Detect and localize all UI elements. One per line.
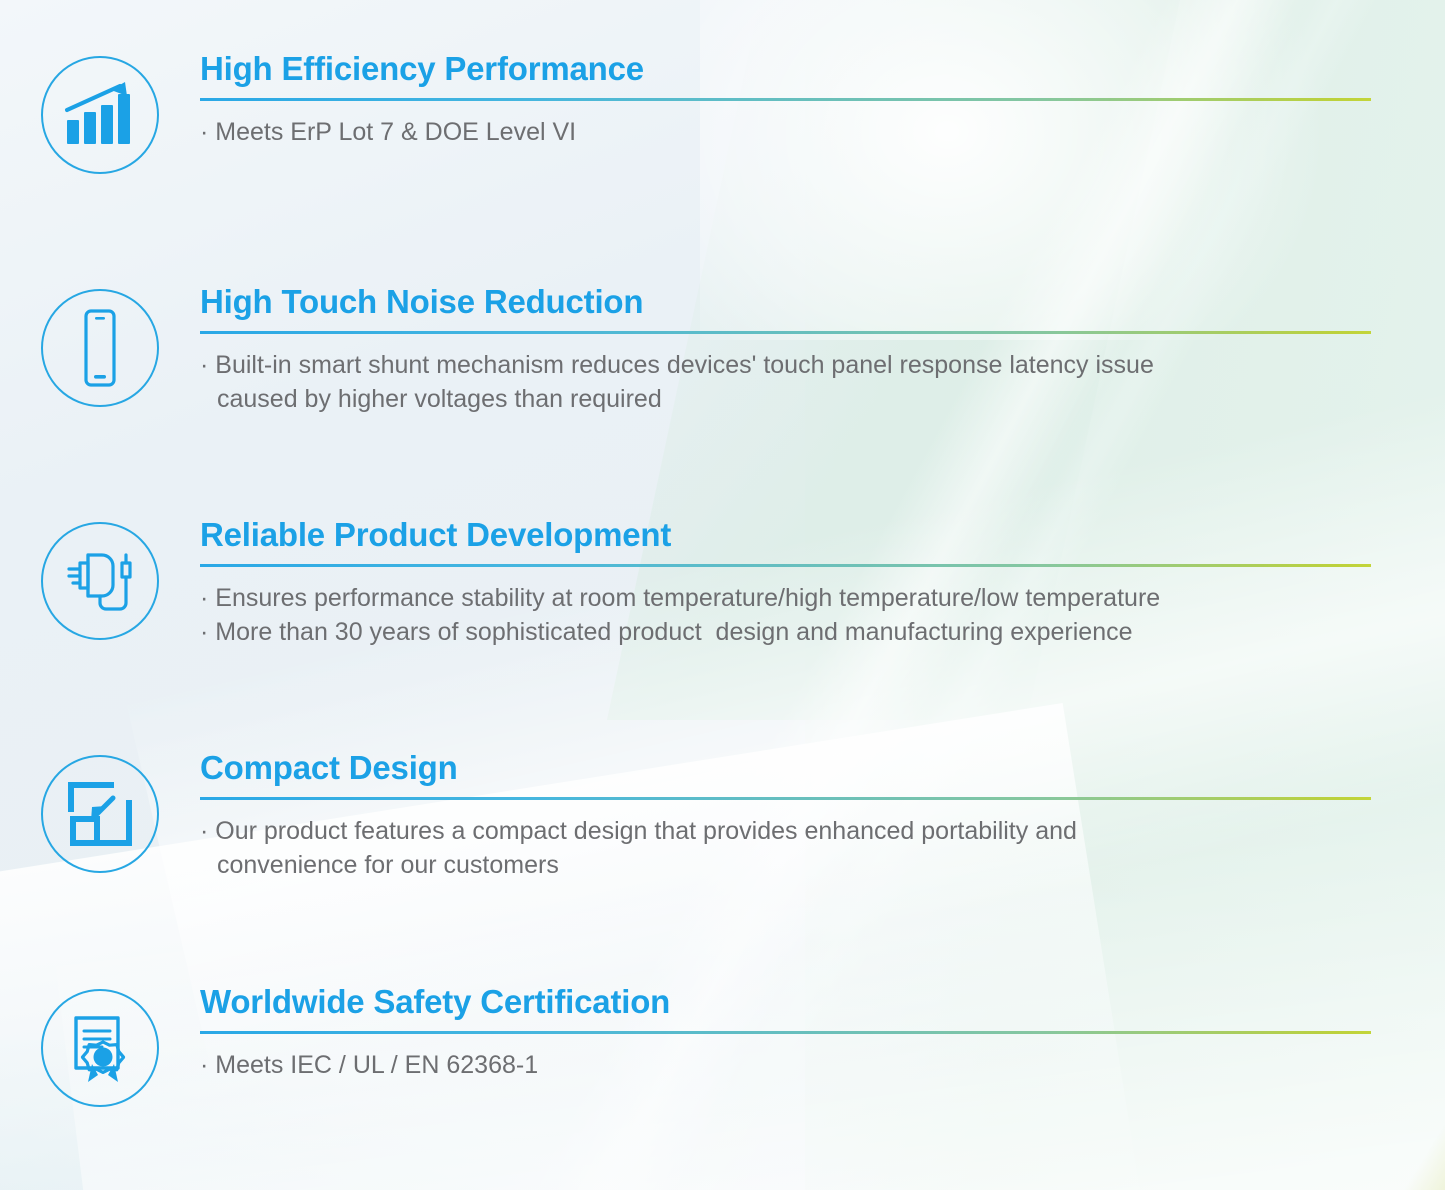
feature-divider-rule bbox=[200, 797, 1371, 800]
bullet-text: Built-in smart shunt mechanism reduces d… bbox=[215, 351, 1154, 379]
bullet-text: Our product features a compact design th… bbox=[215, 817, 1077, 845]
feature-divider-rule bbox=[200, 564, 1371, 567]
bullet-marker: · bbox=[200, 1051, 215, 1079]
feature-title: Compact Design bbox=[200, 751, 1371, 785]
feature-bullet-line: · Our product features a compact design … bbox=[200, 814, 1371, 883]
bullet-text: Ensures performance stability at room te… bbox=[215, 584, 1160, 612]
feature-text-block: High Touch Noise Reduction · Built-in sm… bbox=[200, 285, 1445, 416]
bullet-marker: · bbox=[200, 584, 215, 612]
feature-icon-container bbox=[0, 52, 200, 174]
bullet-marker: · bbox=[200, 817, 215, 845]
bullet-text: Meets ErP Lot 7 & DOE Level VI bbox=[215, 118, 576, 146]
feature-title: High Touch Noise Reduction bbox=[200, 285, 1371, 319]
bullet-text: Meets IEC / UL / EN 62368-1 bbox=[215, 1051, 538, 1079]
feature-item-compact-design: Compact Design · Our product features a … bbox=[0, 751, 1445, 882]
feature-text-block: Reliable Product Development · Ensures p… bbox=[200, 518, 1445, 649]
feature-text-block: High Efficiency Performance · Meets ErP … bbox=[200, 52, 1445, 149]
bullet-marker: · bbox=[200, 618, 215, 646]
feature-text-block: Worldwide Safety Certification · Meets I… bbox=[200, 985, 1445, 1082]
feature-divider-rule bbox=[200, 1031, 1371, 1034]
feature-divider-rule bbox=[200, 331, 1371, 334]
feature-title: Worldwide Safety Certification bbox=[200, 985, 1371, 1019]
bar-chart-growth-icon bbox=[41, 56, 159, 174]
feature-bullet-line: · Ensures performance stability at room … bbox=[200, 581, 1371, 615]
smartphone-icon bbox=[41, 289, 159, 407]
feature-title: High Efficiency Performance bbox=[200, 52, 1371, 86]
feature-list: High Efficiency Performance · Meets ErP … bbox=[0, 0, 1445, 1190]
feature-bullet-line: · More than 30 years of sophisticated pr… bbox=[200, 615, 1371, 649]
compact-resize-icon bbox=[41, 755, 159, 873]
feature-item-high-efficiency-performance: High Efficiency Performance · Meets ErP … bbox=[0, 52, 1445, 174]
feature-icon-container bbox=[0, 751, 200, 873]
bullet-text: More than 30 years of sophisticated prod… bbox=[215, 618, 1132, 646]
bullet-marker: · bbox=[200, 118, 215, 146]
feature-icon-container bbox=[0, 518, 200, 640]
feature-icon-container bbox=[0, 985, 200, 1107]
feature-item-reliable-product-development: Reliable Product Development · Ensures p… bbox=[0, 518, 1445, 649]
bullet-text-continuation: caused by higher voltages than required bbox=[200, 382, 1371, 416]
feature-item-high-touch-noise-reduction: High Touch Noise Reduction · Built-in sm… bbox=[0, 285, 1445, 416]
feature-icon-container bbox=[0, 285, 200, 407]
certificate-seal-icon bbox=[41, 989, 159, 1107]
bullet-text-continuation: convenience for our customers bbox=[200, 848, 1371, 882]
feature-bullet-line: · Meets IEC / UL / EN 62368-1 bbox=[200, 1048, 1371, 1082]
feature-item-worldwide-safety-certification: Worldwide Safety Certification · Meets I… bbox=[0, 985, 1445, 1107]
feature-highlights-page: High Efficiency Performance · Meets ErP … bbox=[0, 0, 1445, 1190]
feature-text-block: Compact Design · Our product features a … bbox=[200, 751, 1445, 882]
feature-bullet-line: · Built-in smart shunt mechanism reduces… bbox=[200, 348, 1371, 417]
power-adapter-icon bbox=[41, 522, 159, 640]
feature-bullet-line: · Meets ErP Lot 7 & DOE Level VI bbox=[200, 115, 1371, 149]
feature-title: Reliable Product Development bbox=[200, 518, 1371, 552]
feature-divider-rule bbox=[200, 98, 1371, 101]
bullet-marker: · bbox=[200, 351, 215, 379]
